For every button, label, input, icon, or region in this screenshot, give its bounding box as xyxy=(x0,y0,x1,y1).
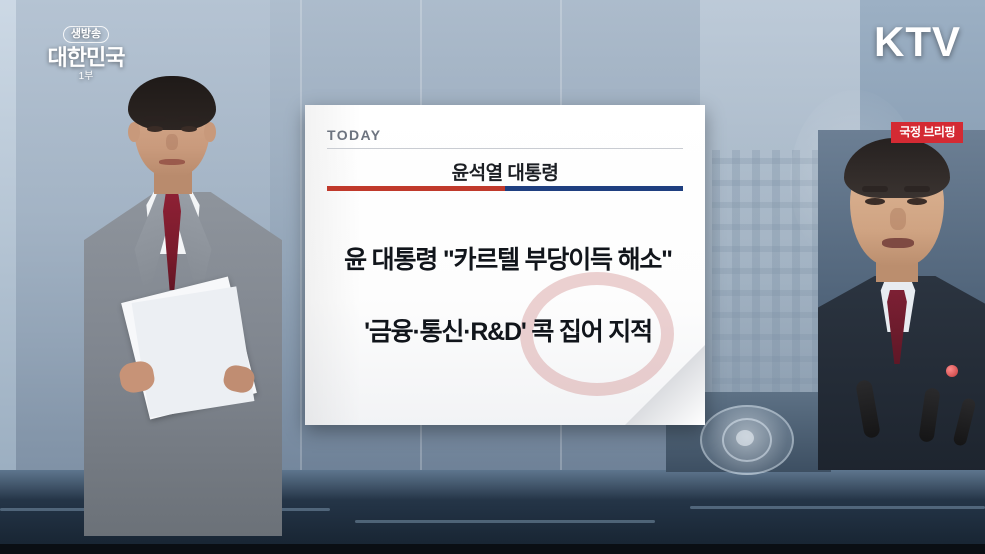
lapel-pin-icon xyxy=(946,365,958,377)
president-eye-left xyxy=(865,198,885,205)
headline-line-2: '금융·통신·R&D' 콕 집어 지적 xyxy=(322,312,694,348)
president-eye-right xyxy=(907,198,927,205)
broadcast-screenshot: KTV 생방송 대한민국 1부 TODAY 국정 브리핑 윤석열 대통령 윤 대… xyxy=(0,0,985,554)
bottom-letterbox-bar xyxy=(0,544,985,554)
anchor-eye-left xyxy=(147,126,163,132)
studio-floor-line-3 xyxy=(690,506,985,509)
card-section-label: TODAY xyxy=(327,127,381,143)
anchor-nose xyxy=(166,134,178,150)
program-badge: 국정 브리핑 xyxy=(891,122,963,143)
president-eyebrow-right xyxy=(904,186,930,192)
channel-logo: KTV xyxy=(874,18,961,66)
anchor-eyebrow-left xyxy=(144,116,166,121)
anchor-hair xyxy=(128,76,216,130)
presidential-seal-center xyxy=(736,430,754,446)
studio-divider-line-1 xyxy=(300,0,302,470)
anchor-ear-right xyxy=(204,122,216,142)
president-nose xyxy=(890,208,906,230)
live-badge-top-label: 생방송 xyxy=(63,26,109,43)
president-portrait xyxy=(818,130,985,470)
president-mouth xyxy=(882,238,914,248)
anchor-mouth xyxy=(159,159,185,165)
president-eyebrow-left xyxy=(862,186,888,192)
live-badge-sub-label: 1부 xyxy=(34,71,138,83)
anchor-eye-right xyxy=(181,126,197,132)
live-program-badge: 생방송 대한민국 1부 xyxy=(34,24,138,88)
headline-line-1: 윤 대통령 "카르텔 부당이득 해소" xyxy=(322,240,694,276)
card-rule-red xyxy=(327,186,505,191)
anchor-ear-left xyxy=(128,122,140,142)
anchor-script-paper-front xyxy=(132,286,255,417)
studio-left-stripe xyxy=(0,0,16,470)
live-badge-main-label: 대한민국 xyxy=(34,45,138,71)
anchor-eyebrow-right xyxy=(178,116,200,121)
card-section-divider xyxy=(327,148,683,149)
card-rule-blue xyxy=(505,186,683,191)
news-anchor xyxy=(74,66,294,536)
studio-floor-line-2 xyxy=(355,520,655,523)
card-subject-title: 윤석열 대통령 xyxy=(327,158,683,185)
